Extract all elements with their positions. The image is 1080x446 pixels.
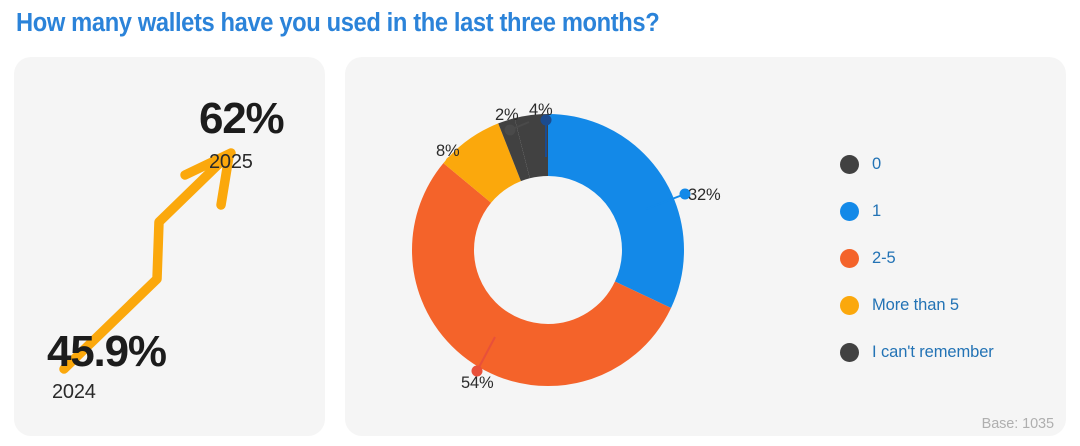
legend-item-1[interactable]: 1 [840, 188, 1040, 235]
chart-legend: 0 1 2-5 More than 5 I can't remember [840, 141, 1040, 376]
legend-item-label: 2-5 [872, 249, 896, 268]
legend-swatch-icon [840, 296, 859, 315]
legend-swatch-icon [840, 155, 859, 174]
legend-swatch-icon [840, 202, 859, 221]
callout-dot [505, 125, 516, 136]
legend-item-label: I can't remember [872, 343, 994, 362]
page-title: How many wallets have you used in the la… [16, 4, 853, 44]
callout-label-8: 8% [436, 142, 459, 161]
legend-item-label: More than 5 [872, 296, 959, 315]
callout-label-2: 2% [495, 106, 518, 125]
legend-item-0[interactable]: 0 [840, 141, 1040, 188]
stat-value-2025: 62% [199, 94, 283, 144]
legend-swatch-icon [840, 249, 859, 268]
callout-label-4: 4% [529, 101, 552, 120]
legend-swatch-icon [840, 343, 859, 362]
donut-chart [400, 85, 745, 415]
callout-label-54: 54% [461, 374, 493, 393]
stat-year-2024: 2024 [52, 381, 96, 404]
legend-item-label: 1 [872, 202, 881, 221]
legend-item-cant-remember[interactable]: I can't remember [840, 329, 1040, 376]
stat-year-2025: 2025 [209, 151, 253, 174]
base-note: Base: 1035 [982, 416, 1054, 432]
legend-item-more-than-5[interactable]: More than 5 [840, 282, 1040, 329]
legend-item-label: 0 [872, 155, 881, 174]
callout-label-32: 32% [688, 186, 720, 205]
legend-item-2-5[interactable]: 2-5 [840, 235, 1040, 282]
stat-value-2024: 45.9% [47, 327, 166, 377]
